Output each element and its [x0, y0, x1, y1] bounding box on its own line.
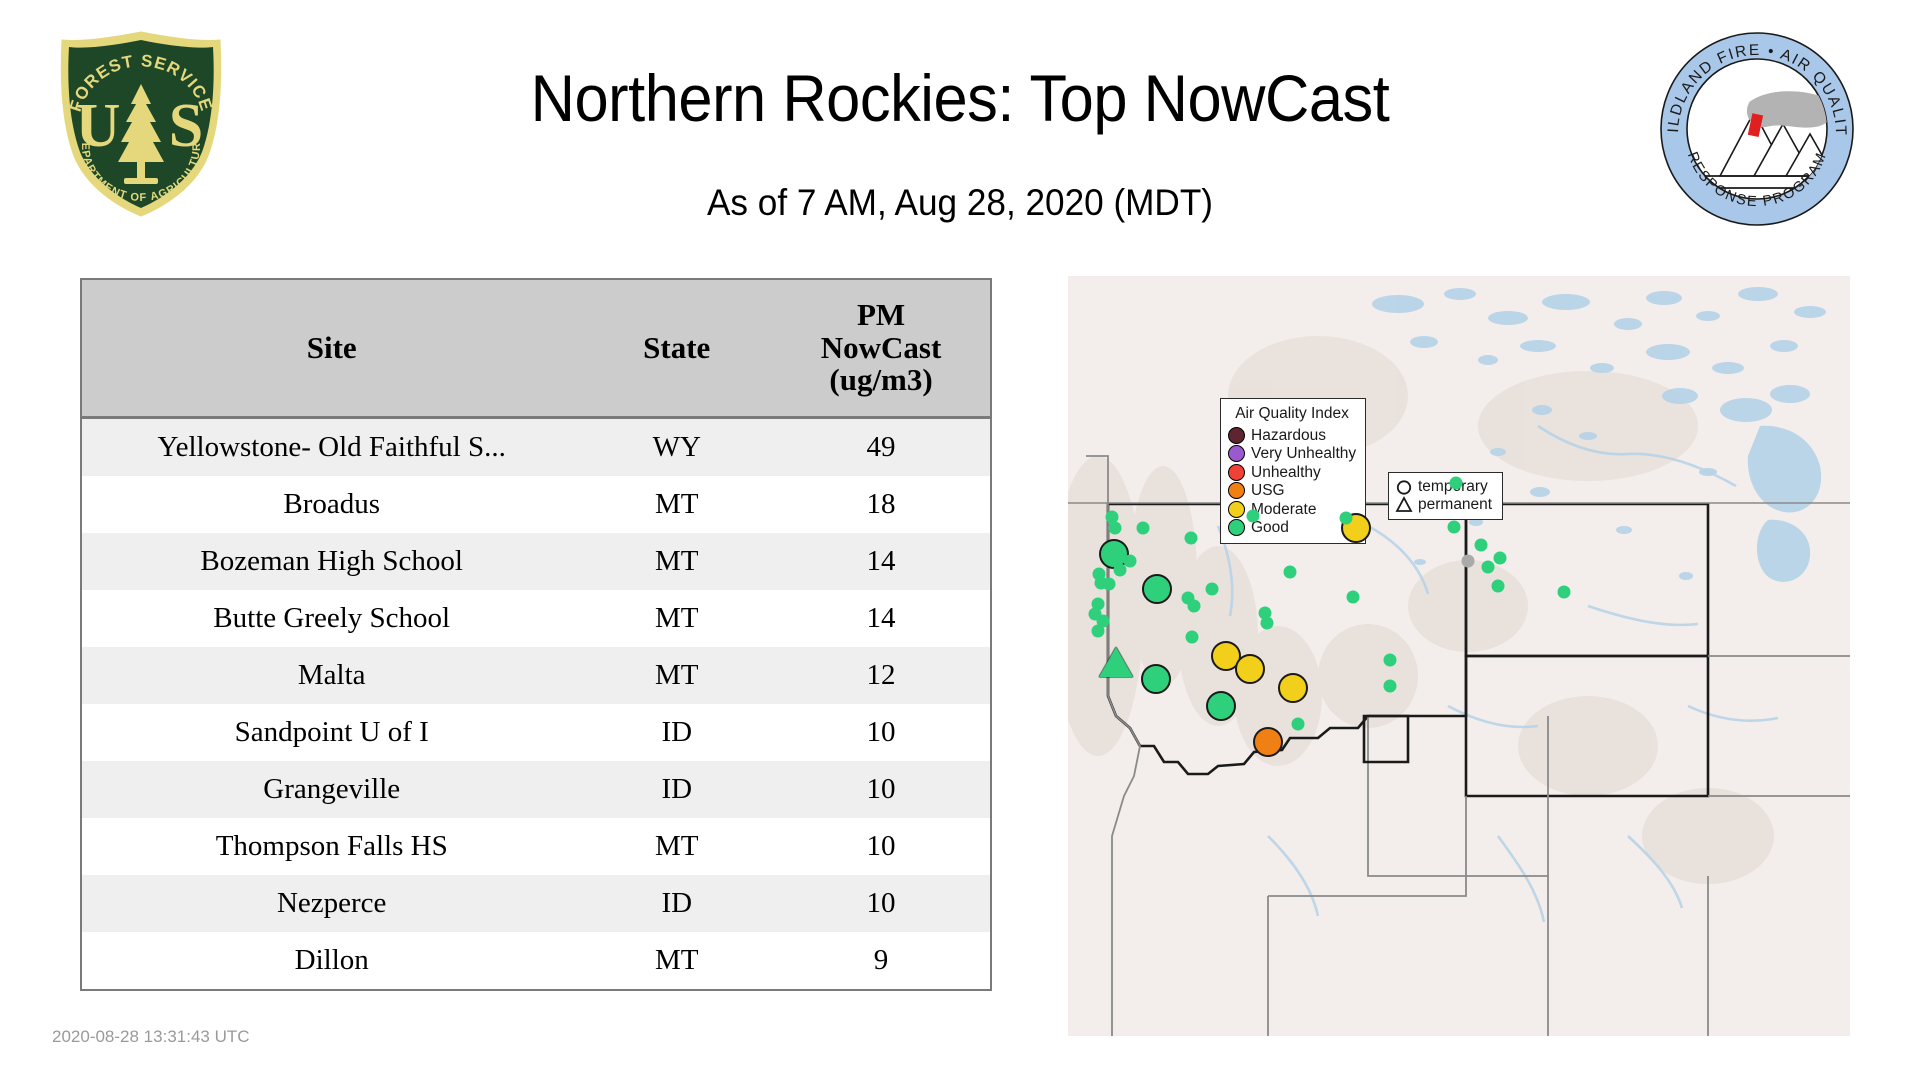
monitor-type-glyphs — [1395, 479, 1413, 513]
site-cell: Bozeman High School — [82, 533, 581, 590]
aqi-swatch-icon — [1228, 464, 1245, 481]
aqi-swatch-icon — [1228, 482, 1245, 499]
state-cell: MT — [581, 818, 772, 875]
aqi-legend-label: Hazardous — [1251, 428, 1326, 444]
monitor-marker[interactable] — [1099, 647, 1133, 677]
monitor-marker[interactable] — [1384, 654, 1397, 667]
table-row[interactable]: Sandpoint U of IID10 — [82, 704, 990, 761]
aqi-swatch-icon — [1228, 427, 1245, 444]
site-cell: Butte Greely School — [82, 590, 581, 647]
table-row[interactable]: Butte Greely SchoolMT14 — [82, 590, 990, 647]
monitor-marker[interactable] — [1109, 522, 1122, 535]
monitor-marker[interactable] — [1340, 512, 1353, 525]
pm-cell: 10 — [772, 761, 990, 818]
page-title: Northern Rockies: Top NowCast — [67, 60, 1853, 136]
monitor-marker[interactable] — [1347, 591, 1360, 604]
monitor-marker[interactable] — [1558, 586, 1571, 599]
aqi-legend-title: Air Quality Index — [1228, 405, 1356, 423]
site-cell: Sandpoint U of I — [82, 704, 581, 761]
pm-cell: 12 — [772, 647, 990, 704]
state-cell: MT — [581, 476, 772, 533]
monitor-marker[interactable] — [1278, 673, 1308, 703]
site-cell: Yellowstone- Old Faithful S... — [82, 418, 581, 477]
monitor-marker[interactable] — [1247, 510, 1260, 523]
aqi-legend-label: Very Unhealthy — [1251, 446, 1356, 462]
monitor-marker[interactable] — [1235, 654, 1265, 684]
table-row[interactable]: GrangevilleID10 — [82, 761, 990, 818]
site-cell: Nezperce — [82, 875, 581, 932]
state-cell: MT — [581, 533, 772, 590]
site-cell: Malta — [82, 647, 581, 704]
aqi-swatch-icon — [1228, 519, 1245, 536]
aqi-legend-item: Very Unhealthy — [1228, 445, 1356, 464]
pm-cell: 18 — [772, 476, 990, 533]
aqi-legend-label: Unhealthy — [1251, 465, 1321, 481]
state-cell: MT — [581, 647, 772, 704]
state-cell: MT — [581, 932, 772, 989]
pm-header-line-1: PM — [776, 299, 986, 332]
wfaqrp-logo: WILDLAND FIRE • AIR QUALITY RESPONSE PRO… — [1658, 30, 1856, 228]
aqi-legend-item: USG — [1228, 482, 1356, 501]
monitor-marker[interactable] — [1188, 600, 1201, 613]
table-row[interactable]: Yellowstone- Old Faithful S...WY49 — [82, 418, 990, 477]
aqi-legend-label: Good — [1251, 520, 1289, 536]
slide-root: FOREST SERVICE U S DEPARTMENT OF AGRICUL… — [0, 0, 1920, 1080]
column-header-pm-nowcast[interactable]: PM NowCast (ug/m3) — [772, 280, 990, 418]
aqi-legend-item: Hazardous — [1228, 426, 1356, 445]
monitor-marker[interactable] — [1185, 532, 1198, 545]
pm-header-line-3: (ug/m3) — [776, 364, 986, 397]
monitor-marker[interactable] — [1492, 580, 1505, 593]
site-cell: Thompson Falls HS — [82, 818, 581, 875]
aqi-swatch-icon — [1228, 445, 1245, 462]
permanent-triangle-icon — [1395, 496, 1413, 513]
aqi-legend-item: Unhealthy — [1228, 463, 1356, 482]
pm-cell: 9 — [772, 932, 990, 989]
monitor-marker[interactable] — [1142, 574, 1172, 604]
monitor-marker[interactable] — [1284, 566, 1297, 579]
monitor-marker[interactable] — [1124, 555, 1137, 568]
table-row[interactable]: Bozeman High SchoolMT14 — [82, 533, 990, 590]
temporary-circle-icon — [1395, 479, 1413, 496]
monitor-marker[interactable] — [1141, 664, 1171, 694]
table-header: Site State PM NowCast (ug/m3) — [82, 280, 990, 418]
table-header-row: Site State PM NowCast (ug/m3) — [82, 280, 990, 418]
pm-cell: 10 — [772, 818, 990, 875]
monitor-marker[interactable] — [1206, 691, 1236, 721]
monitor-marker[interactable] — [1261, 617, 1274, 630]
state-cell: WY — [581, 418, 772, 477]
pm-header-line-2: NowCast — [776, 332, 986, 365]
monitor-marker[interactable] — [1137, 522, 1150, 535]
state-cell: ID — [581, 875, 772, 932]
map-basemap — [1068, 276, 1850, 1036]
monitor-type-legend: temporary permanent — [1388, 472, 1503, 520]
monitor-marker[interactable] — [1450, 477, 1463, 490]
table-row[interactable]: MaltaMT12 — [82, 647, 990, 704]
monitor-marker[interactable] — [1475, 539, 1488, 552]
pm-cell: 10 — [772, 875, 990, 932]
monitor-marker[interactable] — [1384, 680, 1397, 693]
monitor-marker[interactable] — [1092, 625, 1105, 638]
table-row[interactable]: NezperceID10 — [82, 875, 990, 932]
table-row[interactable]: BroadusMT18 — [82, 476, 990, 533]
state-cell: ID — [581, 704, 772, 761]
air-quality-map[interactable]: Air Quality Index HazardousVery Unhealth… — [1068, 276, 1850, 1036]
column-header-site[interactable]: Site — [82, 280, 581, 418]
column-header-state[interactable]: State — [581, 280, 772, 418]
site-cell: Dillon — [82, 932, 581, 989]
pm-cell: 14 — [772, 590, 990, 647]
generated-timestamp: 2020-08-28 13:31:43 UTC — [52, 1027, 250, 1047]
monitor-marker[interactable] — [1462, 555, 1475, 568]
table-row[interactable]: Thompson Falls HSMT10 — [82, 818, 990, 875]
aqi-legend-label: USG — [1251, 483, 1285, 499]
monitor-marker[interactable] — [1494, 552, 1507, 565]
monitor-marker[interactable] — [1448, 521, 1461, 534]
page-subtitle: As of 7 AM, Aug 28, 2020 (MDT) — [48, 182, 1872, 224]
site-cell: Broadus — [82, 476, 581, 533]
monitor-marker[interactable] — [1206, 583, 1219, 596]
pm-cell: 14 — [772, 533, 990, 590]
aqi-legend-item: Good — [1228, 519, 1356, 538]
nowcast-table-container: Site State PM NowCast (ug/m3) Yellowston… — [80, 278, 992, 991]
aqi-legend-label: Moderate — [1251, 502, 1316, 518]
pm-cell: 49 — [772, 418, 990, 477]
monitor-marker[interactable] — [1292, 718, 1305, 731]
permanent-label: permanent — [1418, 496, 1492, 514]
nowcast-table: Site State PM NowCast (ug/m3) Yellowston… — [82, 280, 990, 989]
state-cell: ID — [581, 761, 772, 818]
monitor-marker[interactable] — [1482, 561, 1495, 574]
site-cell: Grangeville — [82, 761, 581, 818]
aqi-swatch-icon — [1228, 501, 1245, 518]
monitor-marker[interactable] — [1103, 578, 1116, 591]
state-cell: MT — [581, 590, 772, 647]
pm-cell: 10 — [772, 704, 990, 761]
table-row[interactable]: DillonMT9 — [82, 932, 990, 989]
monitor-marker[interactable] — [1186, 631, 1199, 644]
monitor-marker[interactable] — [1253, 727, 1283, 757]
table-body: Yellowstone- Old Faithful S...WY49Broadu… — [82, 418, 990, 990]
